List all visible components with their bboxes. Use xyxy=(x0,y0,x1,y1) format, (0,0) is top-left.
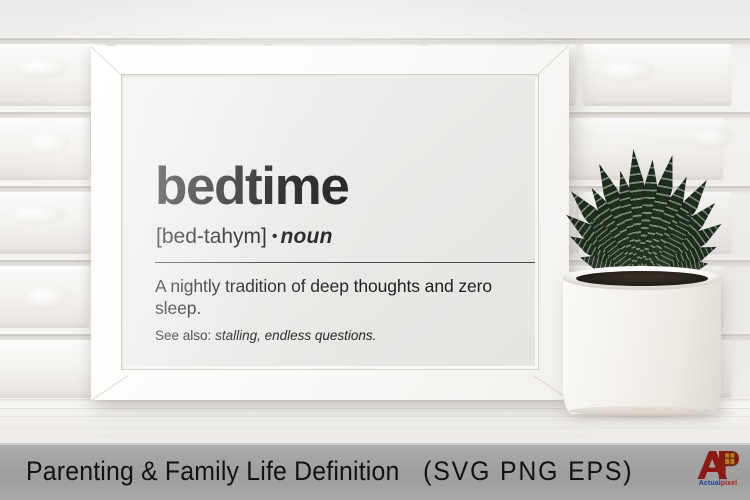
bullet-separator-icon: • xyxy=(267,228,281,245)
pot-soil xyxy=(576,271,708,286)
potted-succulent xyxy=(543,88,750,418)
print-pronunciation-line: [bed-tahym]•noun xyxy=(156,226,333,247)
actual-pixel-mark-icon xyxy=(696,449,740,481)
logo-wordmark: Actualpixel xyxy=(694,480,742,487)
banner-top-highlight xyxy=(0,443,750,445)
banner-file-formats: (SVG PNG EPS) xyxy=(407,456,634,486)
product-mockup-scene: bedtime [bed-tahym]•noun A nightly tradi… xyxy=(0,0,750,443)
see-also-terms: stalling, endless questions. xyxy=(215,328,376,343)
picture-frame[interactable]: bedtime [bed-tahym]•noun A nightly tradi… xyxy=(91,46,569,400)
product-caption-banner: Parenting & Family Life Definition (SVG … xyxy=(0,443,750,500)
actual-pixel-logo[interactable]: Actualpixel xyxy=(694,449,742,495)
banner-title: Parenting & Family Life Definition xyxy=(26,456,400,486)
definition-art-print: bedtime [bed-tahym]•noun A nightly tradi… xyxy=(125,78,535,366)
print-headword: bedtime xyxy=(155,160,348,213)
ceramic-plant-pot xyxy=(563,272,721,414)
part-of-speech: noun xyxy=(281,225,333,248)
print-see-also-line: See also: stalling, endless questions. xyxy=(155,328,376,344)
banner-caption: Parenting & Family Life Definition (SVG … xyxy=(26,456,633,487)
pronunciation-text: [bed-tahym] xyxy=(156,225,267,248)
logo-word-pixel: pixel xyxy=(721,480,737,487)
see-also-label: See also: xyxy=(155,328,211,343)
print-divider-rule xyxy=(155,262,535,263)
print-definition-text: A nightly tradition of deep thoughts and… xyxy=(155,276,505,320)
pot-base xyxy=(569,406,715,416)
logo-word-actual: Actual xyxy=(699,480,721,487)
